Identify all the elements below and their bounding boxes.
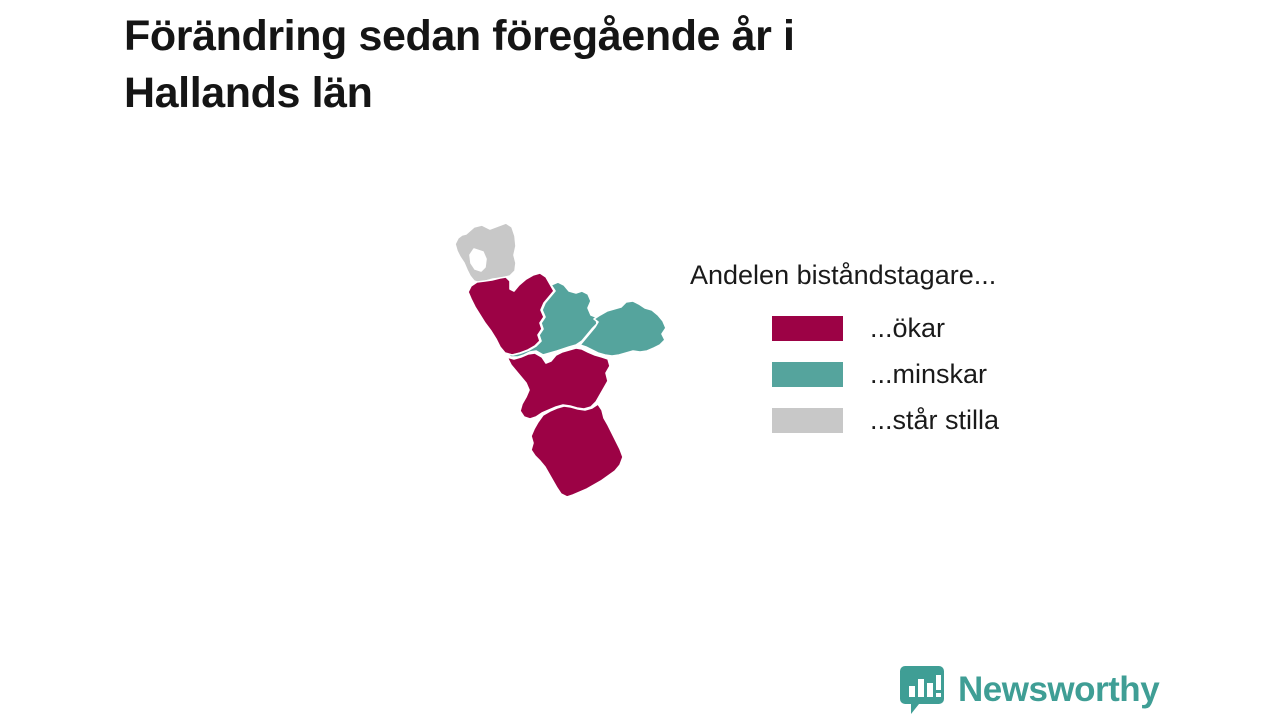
legend-item-increase[interactable]: ...ökar bbox=[690, 305, 1120, 351]
legend-swatch-increase bbox=[772, 316, 843, 341]
halland-map-svg bbox=[430, 205, 700, 525]
legend-label-unchanged: ...står stilla bbox=[870, 404, 999, 436]
legend-item-decrease[interactable]: ...minskar bbox=[690, 351, 1120, 397]
map-region-hylte[interactable] bbox=[580, 301, 666, 356]
bar-chart-speech-bubble-icon bbox=[900, 666, 944, 714]
map-legend: Andelen biståndstagare... ...ökar ...min… bbox=[690, 258, 1120, 443]
newsworthy-wordmark: Newsworthy bbox=[958, 672, 1159, 708]
choropleth-map bbox=[430, 205, 700, 525]
legend-label-decrease: ...minskar bbox=[870, 358, 987, 390]
map-region-laholm[interactable] bbox=[531, 404, 623, 497]
legend-title: Andelen biståndstagare... bbox=[690, 258, 1120, 292]
legend-label-increase: ...ökar bbox=[870, 312, 945, 344]
newsworthy-logo[interactable]: Newsworthy bbox=[900, 666, 1159, 714]
legend-swatch-decrease bbox=[772, 362, 843, 387]
map-region-kungsbacka[interactable] bbox=[455, 223, 516, 283]
legend-item-unchanged[interactable]: ...står stilla bbox=[690, 397, 1120, 443]
legend-swatch-unchanged bbox=[772, 408, 843, 433]
page-title: Förändring sedan föregående år i Halland… bbox=[124, 8, 1004, 122]
